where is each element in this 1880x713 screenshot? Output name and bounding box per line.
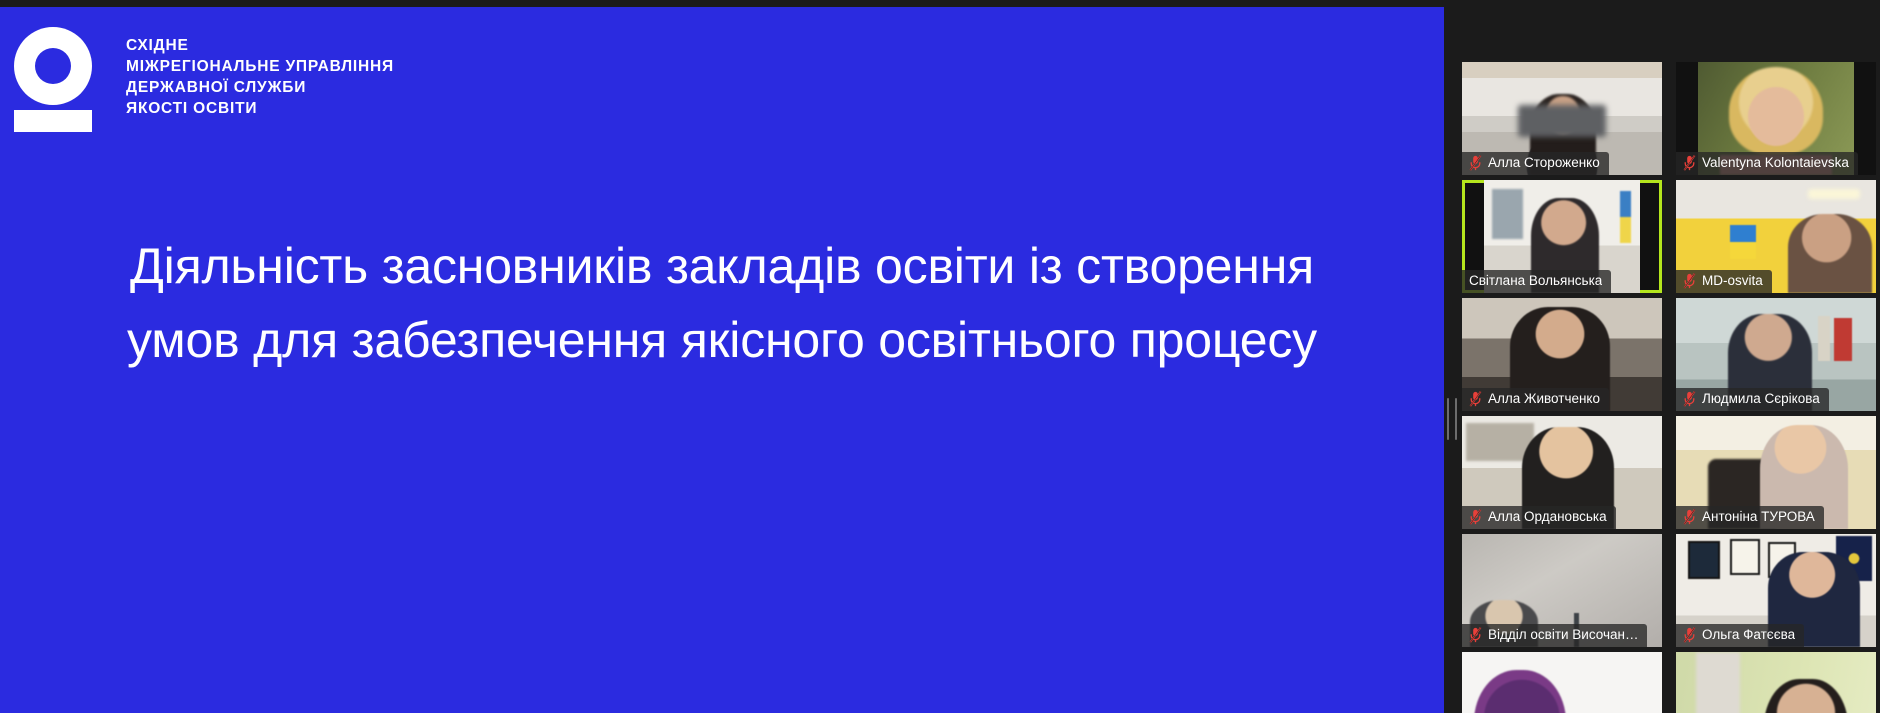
- window-top-strip: [0, 0, 1444, 7]
- participant-name-label: Алла Стороженко: [1488, 154, 1600, 172]
- participant-tile[interactable]: Алла Стороженко: [1462, 62, 1662, 175]
- logo-ring-shape: [14, 27, 92, 105]
- mic-muted-icon: [1683, 509, 1696, 525]
- mic-muted-icon: [1469, 627, 1482, 643]
- participant-name-bar: Алла Стороженко: [1462, 152, 1609, 175]
- participant-name-bar: Антоніна ТУРОВА: [1676, 506, 1824, 529]
- mic-muted-icon: [1683, 155, 1696, 171]
- org-line-4: ЯКОСТІ ОСВІТИ: [126, 99, 394, 118]
- org-line-1: СХІДНЕ: [126, 36, 394, 55]
- participant-name-label: Людмила Сєрікова: [1702, 390, 1820, 408]
- slide-title-line-2: умов для забезпечення якісного освітньог…: [14, 303, 1430, 377]
- participant-sidebar[interactable]: Алла СтороженкоValentyna KolontaievskaСв…: [1462, 0, 1880, 713]
- mic-muted-icon: [1683, 627, 1696, 643]
- participant-name-bar: MD-osvita: [1676, 270, 1772, 293]
- mic-muted-icon: [1469, 509, 1482, 525]
- participant-tile[interactable]: Ольга Фатєєва: [1676, 534, 1876, 647]
- participant-tile[interactable]: MD-osvita: [1676, 180, 1876, 293]
- slide-title-line-1: Діяльність засновників закладів освіти і…: [14, 229, 1430, 303]
- slide-title: Діяльність засновників закладів освіти і…: [0, 229, 1444, 377]
- resize-handle-line-2: [1455, 398, 1457, 440]
- organization-logo-icon: [14, 27, 92, 132]
- mic-muted-icon: [1469, 391, 1482, 407]
- participant-name-bar: Людмила Сєрікова: [1676, 388, 1829, 411]
- participant-tile[interactable]: Антоніна ТУРОВА: [1676, 416, 1876, 529]
- participant-name-bar: Ольга Фатєєва: [1676, 624, 1804, 647]
- participant-tile-grid: Алла СтороженкоValentyna KolontaievskaСв…: [1462, 62, 1880, 713]
- participant-name-label: MD-osvita: [1702, 272, 1763, 290]
- participant-name-label: Світлана Вольянська: [1469, 272, 1602, 290]
- participant-name-label: Valentyna Kolontaievska: [1702, 154, 1849, 172]
- participant-tile[interactable]: [1462, 652, 1662, 713]
- organization-name: СХІДНЕ МІЖРЕГІОНАЛЬНЕ УПРАВЛІННЯ ДЕРЖАВН…: [126, 27, 394, 118]
- participant-name-bar: Відділ освіти Височан…: [1462, 624, 1647, 647]
- participant-tile[interactable]: Світлана Вольянська: [1462, 180, 1662, 293]
- resize-handle-line-1: [1447, 398, 1449, 440]
- participant-name-label: Алла Ордановська: [1488, 508, 1607, 526]
- slide-header: СХІДНЕ МІЖРЕГІОНАЛЬНЕ УПРАВЛІННЯ ДЕРЖАВН…: [14, 27, 394, 132]
- participant-video: [1462, 652, 1662, 713]
- participant-name-label: Алла Животченко: [1488, 390, 1600, 408]
- participant-tile[interactable]: Алла Животченко: [1462, 298, 1662, 411]
- participant-tile[interactable]: Алла Ордановська: [1462, 416, 1662, 529]
- participant-name-bar: Алла Животченко: [1462, 388, 1609, 411]
- shared-screen-slide[interactable]: СХІДНЕ МІЖРЕГІОНАЛЬНЕ УПРАВЛІННЯ ДЕРЖАВН…: [0, 7, 1444, 713]
- participant-name-label: Ольга Фатєєва: [1702, 626, 1795, 644]
- mic-muted-icon: [1683, 273, 1696, 289]
- participant-name-label: Відділ освіти Височан…: [1488, 626, 1638, 644]
- org-line-3: ДЕРЖАВНОЇ СЛУЖБИ: [126, 78, 394, 97]
- logo-bar-shape: [14, 110, 92, 132]
- org-line-2: МІЖРЕГІОНАЛЬНЕ УПРАВЛІННЯ: [126, 57, 394, 76]
- mic-muted-icon: [1469, 155, 1482, 171]
- participant-video: [1676, 652, 1876, 713]
- sidebar-resize-handle[interactable]: [1447, 398, 1457, 440]
- mic-muted-icon: [1683, 391, 1696, 407]
- meeting-window: СХІДНЕ МІЖРЕГІОНАЛЬНЕ УПРАВЛІННЯ ДЕРЖАВН…: [0, 0, 1880, 713]
- participant-tile[interactable]: [1676, 652, 1876, 713]
- participant-tile[interactable]: Відділ освіти Височан…: [1462, 534, 1662, 647]
- participant-name-bar: Алла Ордановська: [1462, 506, 1616, 529]
- participant-name-bar: Valentyna Kolontaievska: [1676, 152, 1858, 175]
- participant-tile[interactable]: Valentyna Kolontaievska: [1676, 62, 1876, 175]
- participant-name-label: Антоніна ТУРОВА: [1702, 508, 1815, 526]
- participant-tile[interactable]: Людмила Сєрікова: [1676, 298, 1876, 411]
- participant-name-bar: Світлана Вольянська: [1462, 270, 1611, 293]
